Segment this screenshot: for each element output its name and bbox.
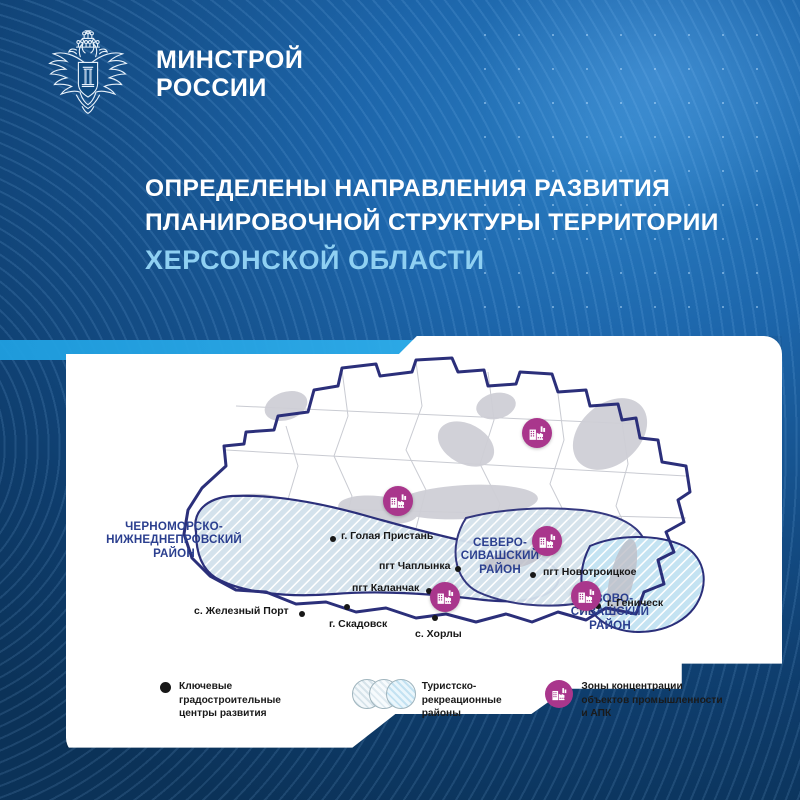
- legend-item-centers: Ключевые градостроительные центры развит…: [160, 680, 334, 721]
- settlement-dot: [330, 536, 336, 542]
- region-label: СЕВЕРО- СИВАШСКИЙ РАЙОН: [461, 536, 539, 576]
- industry-zone-marker[interactable]: [383, 486, 413, 516]
- brand-header: МИНСТРОЙ РОССИИ: [40, 26, 303, 122]
- settlement-label: с. Железный Порт: [194, 605, 289, 617]
- industry-zone-marker[interactable]: [532, 526, 562, 556]
- legend-item-industry: Зоны концентрации объектов промышленност…: [545, 680, 760, 721]
- map-container: ЧЕРНОМОРСКО- НИЖНЕДНЕПРОВСКИЙ РАЙОН СЕВЕ…: [66, 336, 782, 756]
- industry-zone-marker[interactable]: [571, 581, 601, 611]
- hatched-circles-icon: [352, 679, 414, 707]
- brand-line-1: МИНСТРОЙ: [156, 46, 303, 74]
- factory-icon: [577, 587, 596, 606]
- title-line-2: ПЛАНИРОВОЧНОЙ СТРУКТУРЫ ТЕРРИТОРИИ: [145, 206, 775, 240]
- industry-zone-marker[interactable]: [522, 418, 552, 448]
- settlement-dot: [455, 566, 461, 572]
- map-legend: Ключевые градостроительные центры развит…: [160, 680, 760, 721]
- poster-title: ОПРЕДЕЛЕНЫ НАПРАВЛЕНИЯ РАЗВИТИЯ ПЛАНИРОВ…: [145, 172, 775, 276]
- legend-item-label: Зоны концентрации объектов промышленност…: [581, 680, 722, 721]
- factory-icon: [538, 532, 557, 551]
- settlement-label: с. Хорлы: [415, 628, 462, 640]
- brand-wordmark: МИНСТРОЙ РОССИИ: [156, 46, 303, 103]
- title-line-1: ОПРЕДЕЛЕНЫ НАПРАВЛЕНИЯ РАЗВИТИЯ: [145, 172, 775, 206]
- brand-line-2: РОССИИ: [156, 74, 303, 102]
- settlement-dot: [432, 615, 438, 621]
- settlement-dot: [530, 572, 536, 578]
- settlement-label: г. Голая Пристань: [341, 530, 433, 542]
- settlement-label: пгт Каланчак: [352, 582, 419, 594]
- title-region: ХЕРСОНСКОЙ ОБЛАСТИ: [145, 240, 775, 276]
- settlement-dot: [299, 611, 305, 617]
- russian-coat-of-arms-icon: [40, 26, 136, 122]
- settlement-label: г. Геническ: [607, 597, 663, 609]
- legend-item-tourist: Туристско- рекреационные районы: [352, 680, 528, 721]
- region-label-text: ЧЕРНОМОРСКО- НИЖНЕДНЕПРОВСКИЙ РАЙОН: [106, 520, 242, 560]
- settlement-label: г. Скадовск: [329, 618, 387, 630]
- legend-item-label: Туристско- рекреационные районы: [422, 680, 502, 721]
- infographic-poster: МИНСТРОЙ РОССИИ ОПРЕДЕЛЕНЫ НАПРАВЛЕНИЯ Р…: [0, 0, 800, 800]
- settlement-label: пгт Новотроицкое: [543, 566, 637, 578]
- factory-icon: [436, 588, 455, 607]
- black-dot-icon: [160, 682, 171, 693]
- region-label-text: СЕВЕРО- СИВАШСКИЙ РАЙОН: [461, 536, 539, 576]
- settlement-dot: [344, 604, 350, 610]
- region-label: ЧЕРНОМОРСКО- НИЖНЕДНЕПРОВСКИЙ РАЙОН: [106, 520, 242, 560]
- factory-icon: [545, 680, 573, 708]
- factory-icon: [389, 492, 408, 511]
- legend-item-label: Ключевые градостроительные центры развит…: [179, 680, 281, 721]
- factory-icon: [528, 424, 547, 443]
- settlement-label: пгт Чаплынка: [379, 560, 450, 572]
- industry-zone-marker[interactable]: [430, 582, 460, 612]
